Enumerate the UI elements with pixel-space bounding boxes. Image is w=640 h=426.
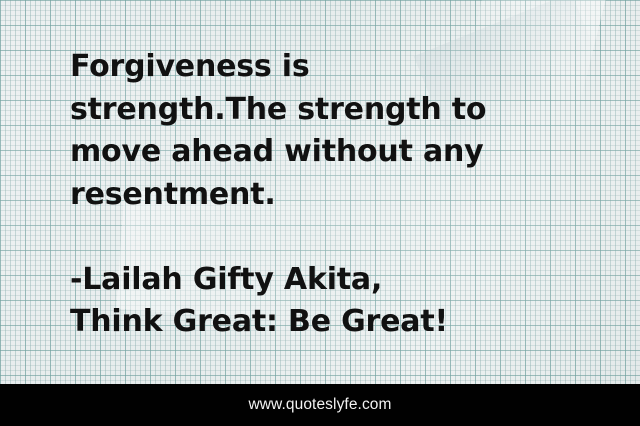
quote-line-3: move ahead without any bbox=[70, 131, 622, 174]
attribution-author: -Lailah Gifty Akita, bbox=[70, 259, 622, 302]
quote-card: Forgiveness is strength.The strength to … bbox=[0, 0, 640, 426]
footer-bar: www.quoteslyfe.com bbox=[0, 384, 640, 426]
quote-text-block: Forgiveness is strength.The strength to … bbox=[70, 46, 622, 380]
website-url[interactable]: www.quoteslyfe.com bbox=[248, 396, 391, 414]
quote-attribution-spacer bbox=[70, 216, 622, 259]
quote-line-1: Forgiveness is bbox=[70, 46, 622, 89]
quote-line-4: resentment. bbox=[70, 174, 622, 217]
attribution-source: Think Great: Be Great! bbox=[70, 301, 622, 344]
quote-line-2: strength.The strength to bbox=[70, 89, 622, 132]
